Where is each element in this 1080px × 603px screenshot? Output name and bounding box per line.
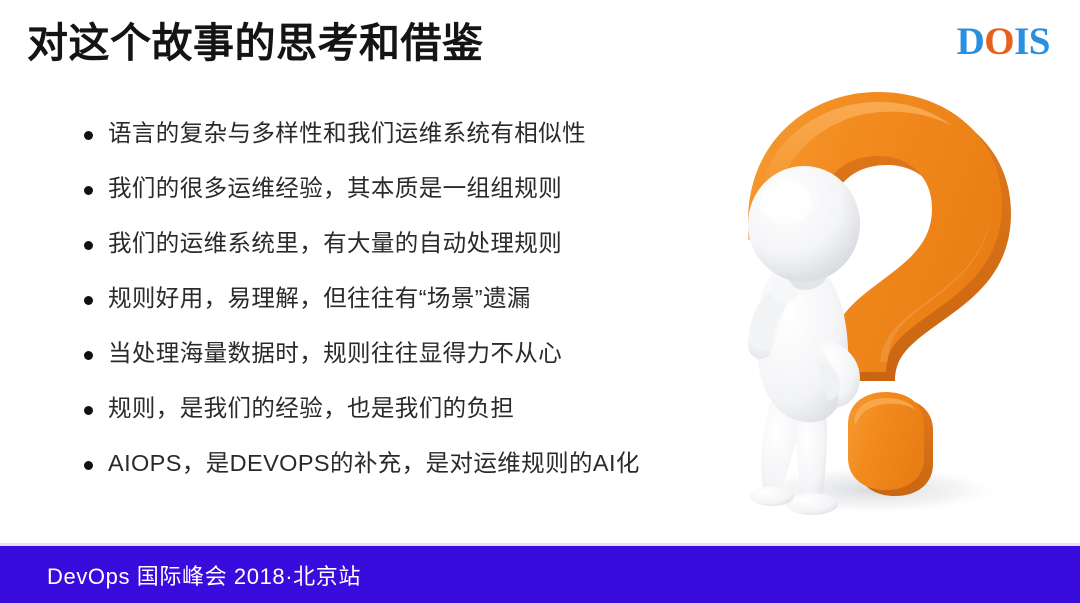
list-item-label: 我们的很多运维经验，其本质是一组组规则 xyxy=(108,173,562,205)
list-item-label: 语言的复杂与多样性和我们运维系统有相似性 xyxy=(108,118,586,150)
presentation-slide: 对这个故事的思考和借鉴 DOIS 语言的复杂与多样性和我们运维系统有相似性 我们… xyxy=(0,0,1080,603)
footer-label: DevOps 国际峰会 2018·北京站 xyxy=(47,559,361,591)
list-item: 当处理海量数据时，规则往往显得力不从心 xyxy=(84,338,704,393)
logo-letters-is: IS xyxy=(1014,20,1050,63)
bullet-dot-icon xyxy=(84,461,93,470)
question-mark-illustration xyxy=(700,72,1080,542)
logo-letter-d: D xyxy=(957,20,985,63)
bullet-dot-icon xyxy=(84,296,93,305)
list-item-label: 当处理海量数据时，规则往往显得力不从心 xyxy=(108,338,562,370)
bullet-dot-icon xyxy=(84,406,93,415)
bullet-list: 语言的复杂与多样性和我们运维系统有相似性 我们的很多运维经验，其本质是一组组规则… xyxy=(84,118,704,503)
bullet-dot-icon xyxy=(84,351,93,360)
bullet-dot-icon xyxy=(84,131,93,140)
list-item-label: AIOPS，是DEVOPS的补充，是对运维规则的AI化 xyxy=(108,448,640,480)
page-title: 对这个故事的思考和借鉴 xyxy=(27,20,484,67)
bullet-dot-icon xyxy=(84,186,93,195)
list-item: 我们的运维系统里，有大量的自动处理规则 xyxy=(84,228,704,283)
list-item: 规则，是我们的经验，也是我们的负担 xyxy=(84,393,704,448)
list-item: AIOPS，是DEVOPS的补充，是对运维规则的AI化 xyxy=(84,448,704,503)
list-item: 语言的复杂与多样性和我们运维系统有相似性 xyxy=(84,118,704,173)
footer-bar: DevOps 国际峰会 2018·北京站 xyxy=(0,546,1080,603)
bullet-dot-icon xyxy=(84,241,93,250)
list-item: 规则好用，易理解，但往往有“场景”遗漏 xyxy=(84,283,704,338)
list-item-label: 我们的运维系统里，有大量的自动处理规则 xyxy=(108,228,562,260)
list-item: 我们的很多运维经验，其本质是一组组规则 xyxy=(84,173,704,228)
logo-letter-o: O xyxy=(984,20,1014,63)
dois-logo: DOIS xyxy=(957,22,1050,61)
list-item-label: 规则，是我们的经验，也是我们的负担 xyxy=(108,393,514,425)
list-item-label: 规则好用，易理解，但往往有“场景”遗漏 xyxy=(108,283,531,315)
